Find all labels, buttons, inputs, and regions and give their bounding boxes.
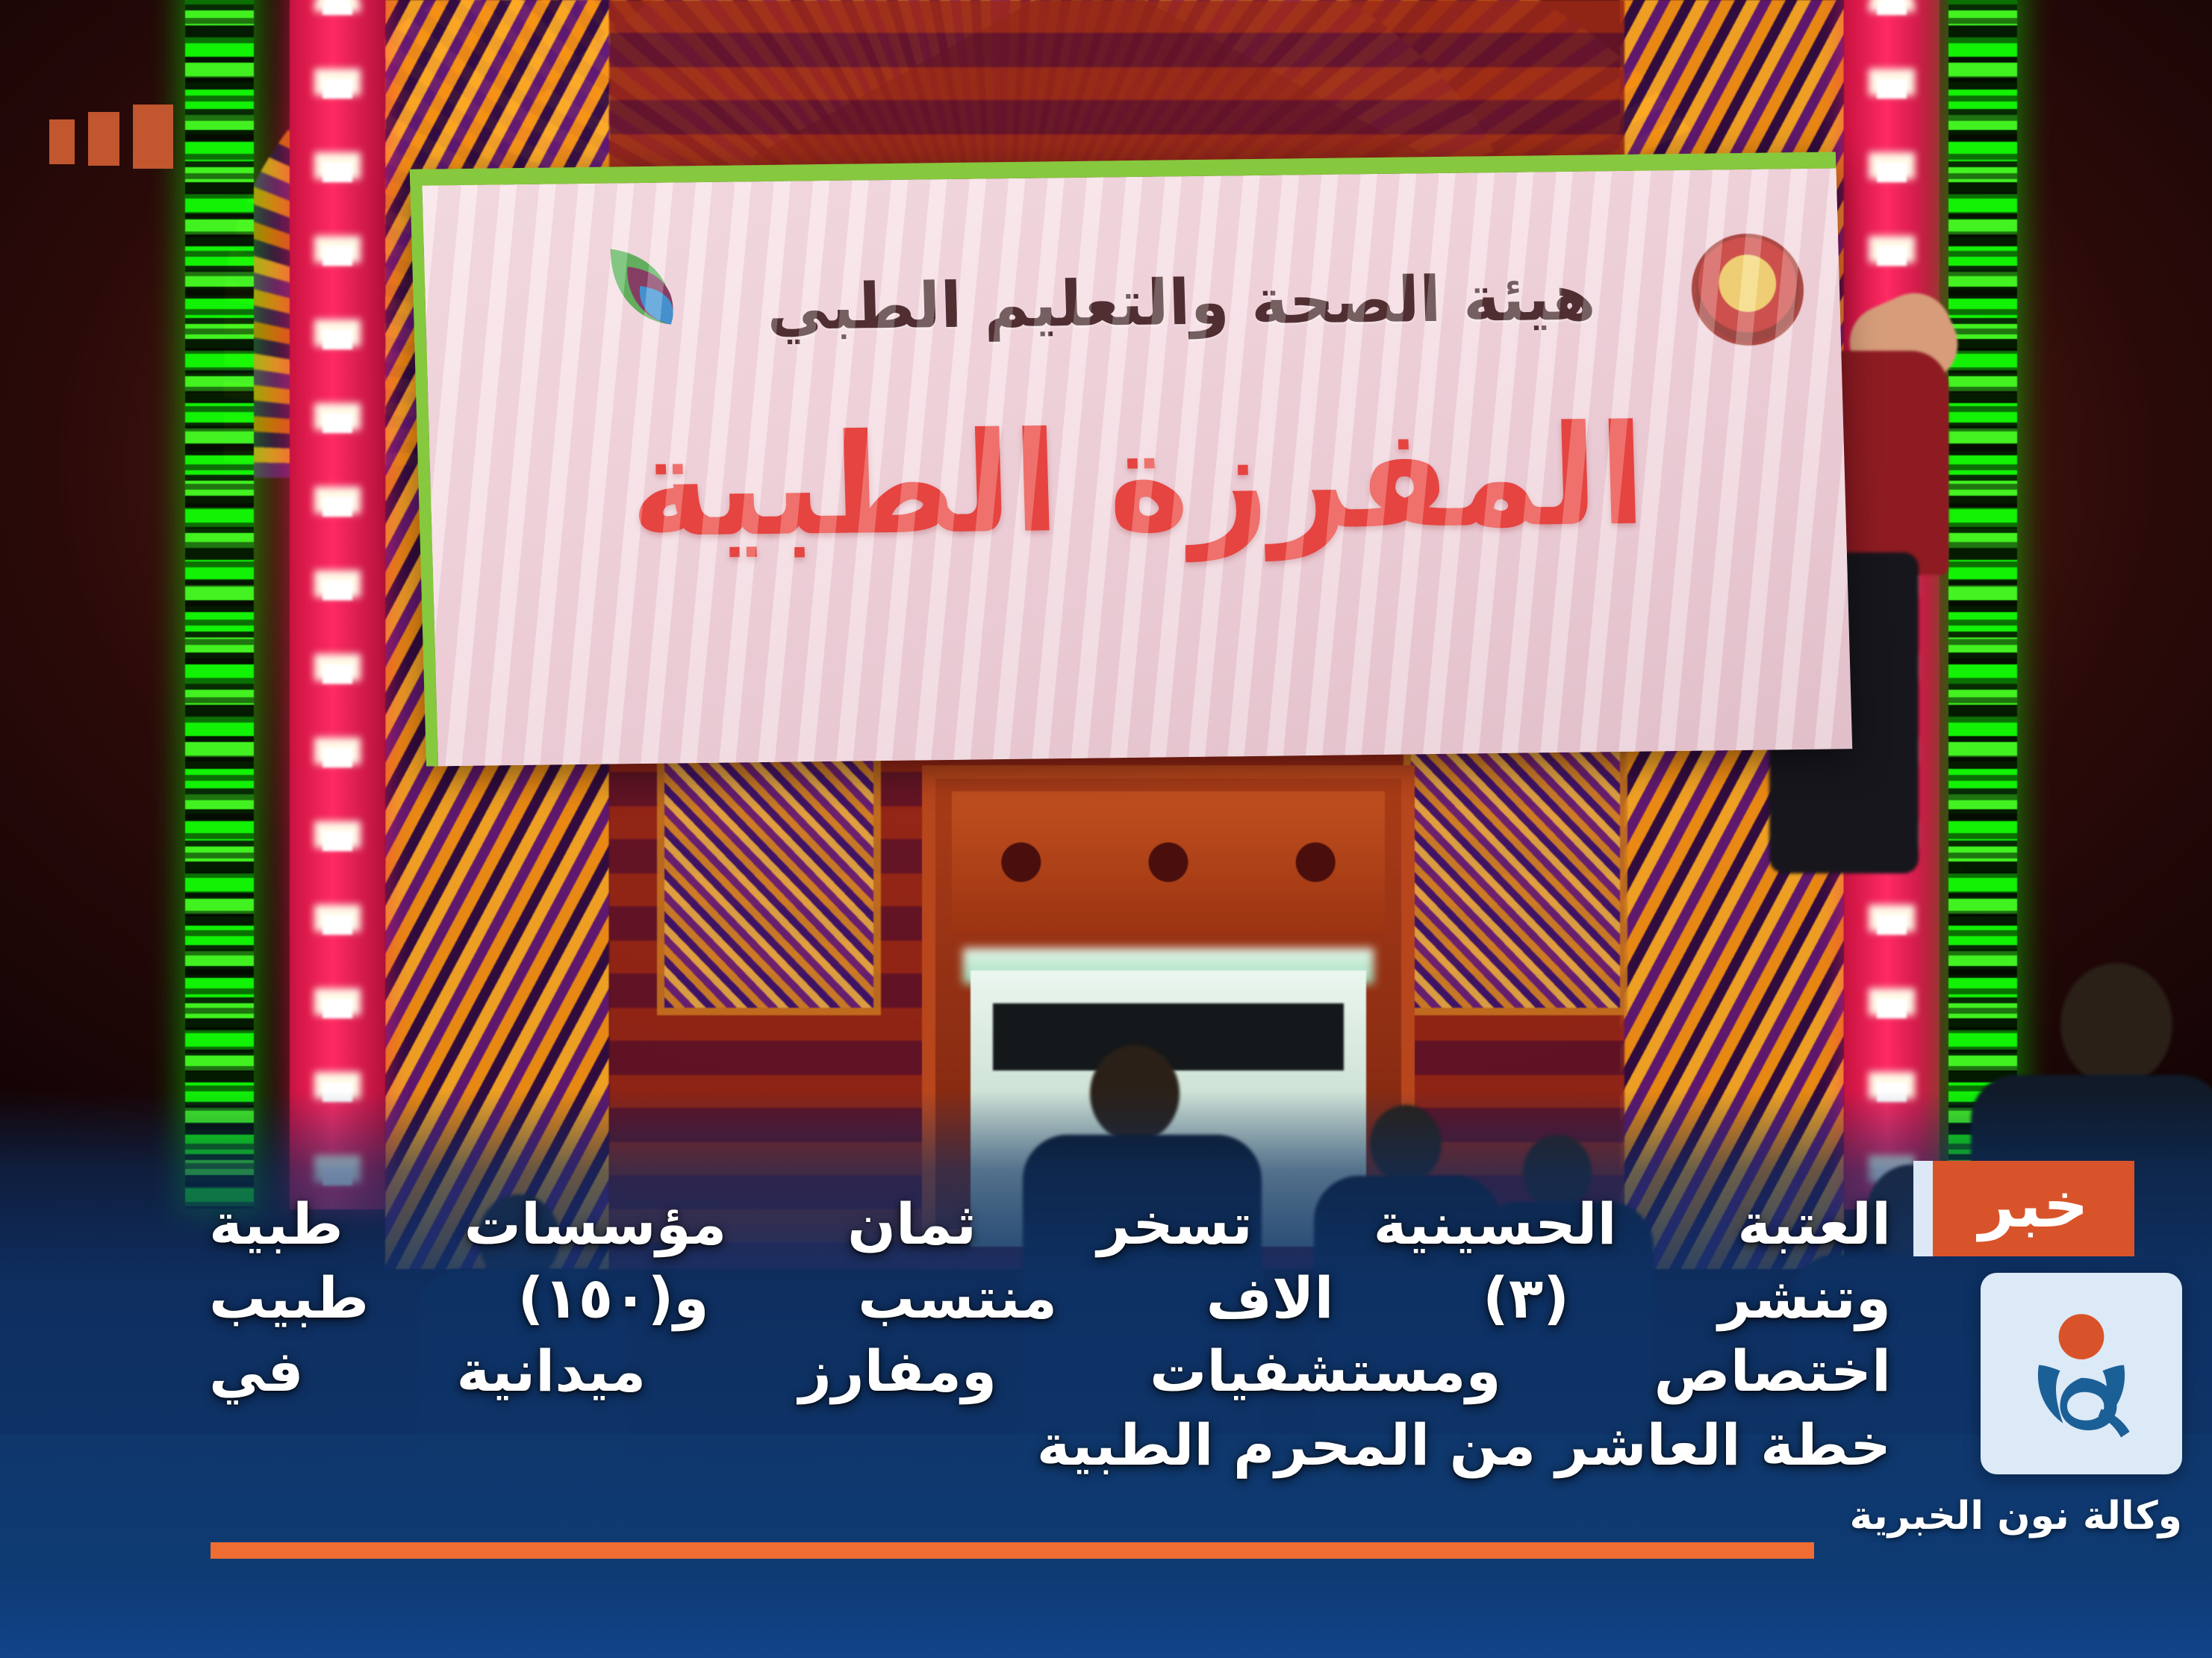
headline-line-3: اختصاص ومستشفيات ومفارز ميدانية في [209, 1335, 1891, 1409]
headline-line-4: خطة العاشر من المحرم الطبية [209, 1409, 1891, 1483]
banner-title-text: المفرزة الطبية [429, 392, 1847, 570]
green-led-border-left [185, 0, 254, 1209]
bar-3 [49, 119, 75, 164]
leaf-logo-icon [597, 240, 690, 353]
light-bulb-strip-left [290, 0, 385, 1209]
crowd-head [1090, 1045, 1180, 1142]
news-badge: خبر [1933, 1161, 2134, 1256]
bar-2 [88, 112, 119, 166]
badge-side-bar [1913, 1161, 1933, 1256]
headline: العتبة الحسينية تسخر ثمان مؤسسات طبية وت… [209, 1188, 1891, 1483]
medical-detachment-banner: هيئة الصحة والتعليم الطبي المفرزة الطبية [410, 152, 1852, 766]
crowd-head [1370, 1105, 1442, 1182]
accent-rule [211, 1542, 1814, 1559]
bar-1 [133, 105, 173, 169]
green-led-border-right [1948, 0, 2017, 1209]
news-card: هيئة الصحة والتعليم الطبي المفرزة الطبية… [0, 0, 2212, 1658]
three-bars-icon [49, 105, 173, 169]
noon-agency-logo-icon [2010, 1303, 2152, 1444]
shrine-seal-icon [1690, 233, 1805, 346]
brand-block: خبر وكالة نون الخبرية [1913, 1161, 2182, 1539]
agency-name: وكالة نون الخبرية [1913, 1494, 2182, 1539]
doorway-lintel [952, 791, 1385, 933]
news-badge-row: خبر [1913, 1161, 2182, 1256]
crowd-head [2060, 963, 2172, 1086]
headline-line-1: العتبة الحسينية تسخر ثمان مؤسسات طبية [209, 1188, 1891, 1262]
banner-organization-text: هيئة الصحة والتعليم الطبي [738, 261, 1624, 344]
headline-line-2: وتنشر (٣) الاف منتسب و(١٥٠) طبيب [209, 1262, 1891, 1336]
agency-logo [1981, 1273, 2182, 1474]
